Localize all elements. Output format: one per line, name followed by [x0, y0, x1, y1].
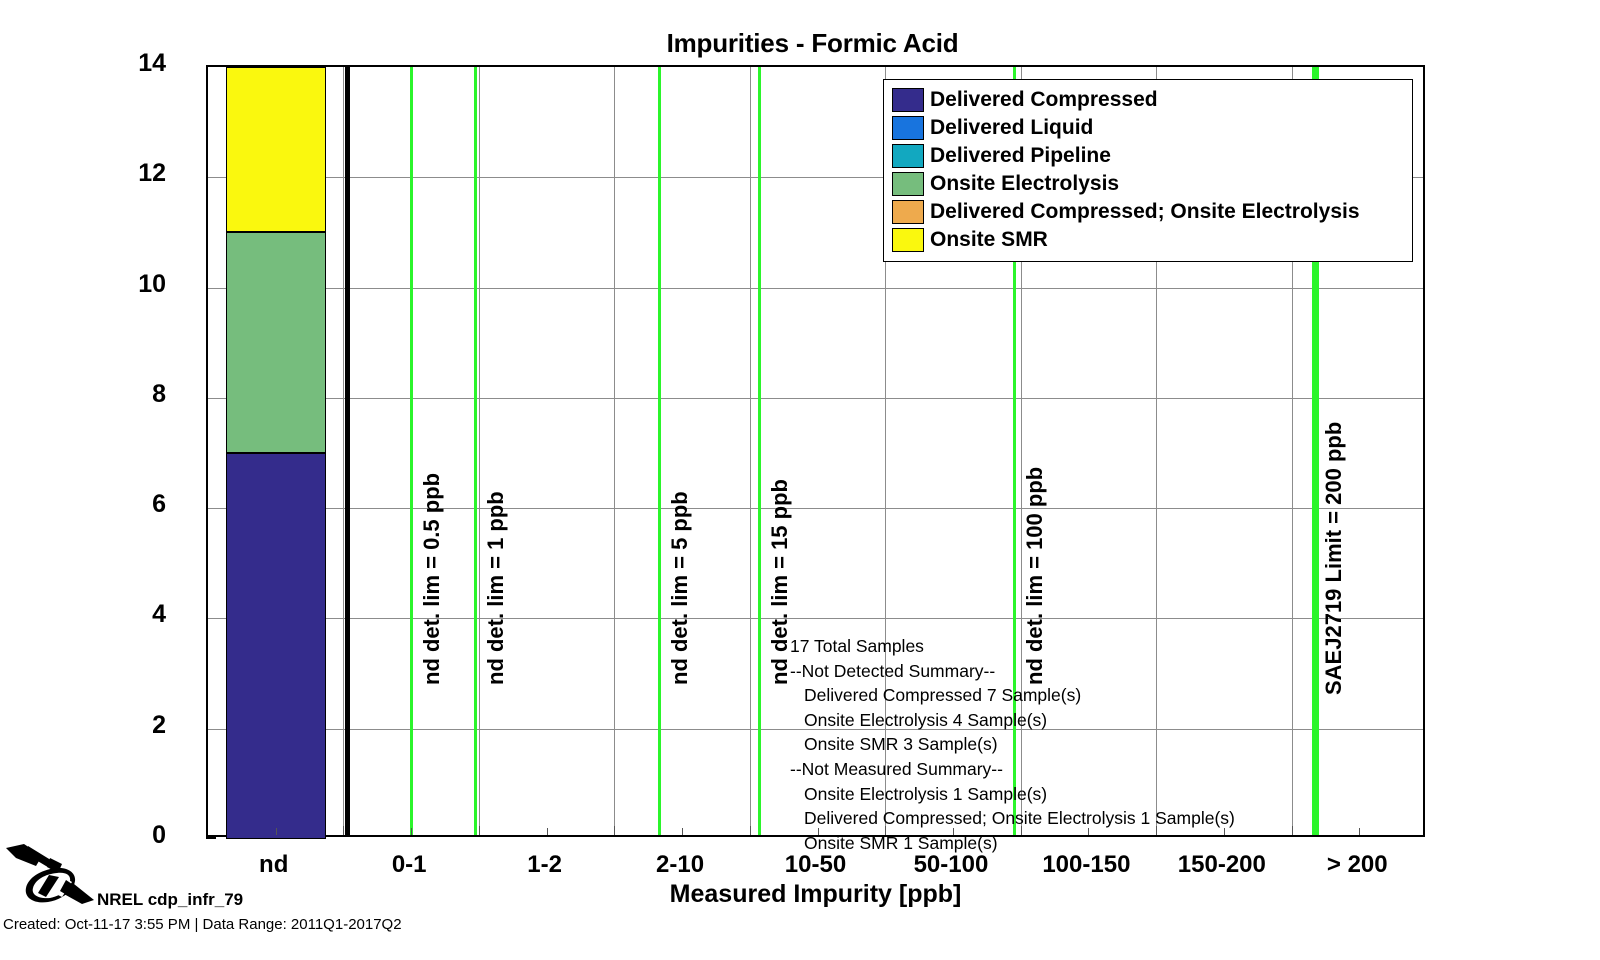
reference-line-label: SAEJ2719 Limit = 200 ppb — [1321, 422, 1347, 695]
reference-line — [474, 67, 477, 835]
y-tick-label: 4 — [106, 600, 166, 629]
x-tick-mark — [1292, 826, 1293, 835]
legend-swatch — [892, 228, 924, 252]
gridline-vertical — [479, 67, 480, 835]
chart-figure: Impurities - Formic Acid Number of Sampl… — [0, 0, 1600, 960]
gridline-horizontal — [208, 508, 1423, 509]
legend-item-label: Onsite SMR — [930, 228, 1048, 252]
nrel-tag: NREL cdp_infr_79 — [97, 890, 243, 910]
y-tick-label: 6 — [106, 490, 166, 519]
x-tick-label: 1-2 — [527, 851, 562, 879]
x-tick-label: 2-10 — [656, 851, 704, 879]
summary-line: Delivered Compressed; Onsite Electrolysi… — [790, 806, 1235, 831]
x-tick-mark-minor — [411, 828, 412, 835]
x-tick-mark — [614, 826, 615, 835]
summary-line: Onsite Electrolysis 4 Sample(s) — [790, 708, 1235, 733]
gridline-horizontal — [208, 618, 1423, 619]
legend-item-label: Delivered Compressed — [930, 88, 1158, 112]
x-tick-mark — [750, 826, 751, 835]
legend-swatch — [892, 200, 924, 224]
legend-item-label: Delivered Pipeline — [930, 144, 1111, 168]
summary-line: Onsite SMR 3 Sample(s) — [790, 732, 1235, 757]
footer: NREL cdp_infr_79 Created: Oct-11-17 3:55… — [0, 840, 420, 960]
summary-line: --Not Detected Summary-- — [790, 659, 1235, 684]
legend-item[interactable]: Onsite SMR — [892, 226, 1406, 254]
reference-line-label: nd det. lim = 1 ppb — [483, 491, 509, 685]
legend-item-label: Onsite Electrolysis — [930, 172, 1119, 196]
legend-swatch — [892, 172, 924, 196]
legend-swatch — [892, 116, 924, 140]
x-tick-mark — [479, 826, 480, 835]
legend-item[interactable]: Delivered Compressed — [892, 86, 1406, 114]
legend-item-label: Delivered Liquid — [930, 116, 1093, 140]
legend: Delivered CompressedDelivered LiquidDeli… — [883, 79, 1413, 262]
summary-annotation: 17 Total Samples--Not Detected Summary--… — [790, 634, 1235, 855]
x-tick-mark-minor — [682, 828, 683, 835]
x-tick-label: > 200 — [1327, 851, 1388, 879]
reference-line-label: nd det. lim = 0.5 ppb — [419, 473, 445, 685]
legend-item[interactable]: Delivered Compressed; Onsite Electrolysi… — [892, 198, 1406, 226]
x-tick-mark-minor — [276, 828, 277, 835]
legend-item-label: Delivered Compressed; Onsite Electrolysi… — [930, 200, 1360, 224]
legend-item[interactable]: Onsite Electrolysis — [892, 170, 1406, 198]
x-tick-mark — [343, 826, 344, 835]
created-line: Created: Oct-11-17 3:55 PM | Data Range:… — [3, 916, 402, 933]
page-title: Impurities - Formic Acid — [200, 28, 1425, 59]
bar-segment — [226, 232, 326, 453]
legend-item[interactable]: Delivered Liquid — [892, 114, 1406, 142]
summary-line: Onsite Electrolysis 1 Sample(s) — [790, 782, 1235, 807]
bar-segment — [226, 67, 326, 232]
reference-line-label: nd det. lim = 5 ppb — [667, 491, 693, 685]
legend-item[interactable]: Delivered Pipeline — [892, 142, 1406, 170]
gridline-vertical — [750, 67, 751, 835]
legend-swatch — [892, 144, 924, 168]
summary-line: Delivered Compressed 7 Sample(s) — [790, 683, 1235, 708]
gridline-horizontal — [208, 288, 1423, 289]
bar-segment — [226, 453, 326, 839]
y-tick-label: 8 — [106, 380, 166, 409]
fuel-nozzle-icon — [2, 842, 97, 908]
gridline-vertical — [614, 67, 615, 835]
y-tick-mark — [206, 837, 216, 839]
x-tick-mark-minor — [1359, 828, 1360, 835]
y-tick-label: 12 — [106, 159, 166, 188]
summary-line: 17 Total Samples — [790, 634, 1235, 659]
x-tick-mark-minor — [547, 828, 548, 835]
legend-swatch — [892, 88, 924, 112]
gridline-horizontal — [208, 398, 1423, 399]
y-tick-label: 2 — [106, 711, 166, 740]
reference-line — [758, 67, 761, 835]
nd-separator-line — [345, 67, 350, 835]
summary-line: Onsite SMR 1 Sample(s) — [790, 831, 1235, 856]
reference-line — [658, 67, 661, 835]
y-tick-label: 10 — [106, 270, 166, 299]
summary-line: --Not Measured Summary-- — [790, 757, 1235, 782]
y-tick-label: 14 — [106, 49, 166, 78]
reference-line — [410, 67, 413, 835]
